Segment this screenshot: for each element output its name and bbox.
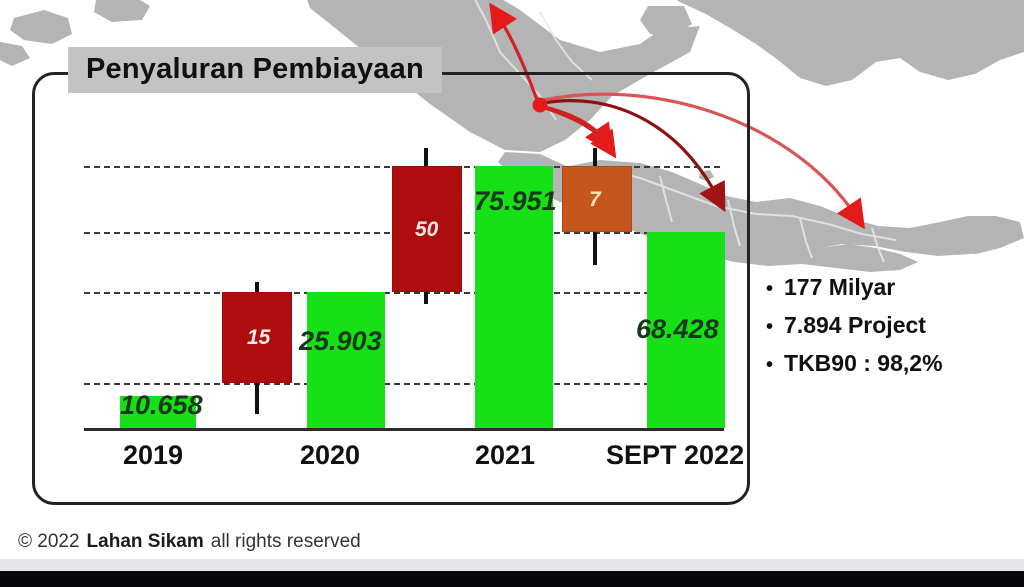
footer-brand: Lahan Sikam	[87, 531, 204, 553]
list-item: • TKB90 : 98,2%	[766, 350, 1016, 377]
footer: © 2022 Lahan Sikam all rights reserved	[0, 525, 1024, 559]
bullet-dot-icon: •	[766, 279, 773, 299]
x-axis-label-2021: 2021	[475, 440, 535, 471]
footer-grey-strip	[0, 559, 1024, 571]
list-item: • 177 Milyar	[766, 274, 1016, 301]
footer-black-strip	[0, 571, 1024, 587]
candle-label-2020: 15	[247, 326, 270, 350]
bullet-dot-icon: •	[766, 355, 773, 375]
x-axis-label-2020: 2020	[300, 440, 360, 471]
footer-rights: all rights reserved	[211, 531, 361, 553]
bar-label-green-2019: 10.658	[120, 390, 203, 421]
slide-canvas: Penyaluran Pembiayaan 10.658 15 25.903 5…	[0, 0, 1024, 587]
x-axis-line	[84, 428, 724, 431]
chart-plot-area: 10.658 15 25.903 50 75.951 7 68.428	[84, 160, 720, 430]
x-axis-label-sept-2022: SEPT 2022	[606, 440, 744, 471]
page-title: Penyaluran Pembiayaan	[86, 54, 424, 84]
list-item: • 7.894 Project	[766, 312, 1016, 339]
candle-label-2022: 7	[589, 188, 601, 212]
bullet-label-tkb90: TKB90 : 98,2%	[784, 350, 943, 377]
candle-label-2021: 50	[415, 218, 438, 242]
bar-label-green-2022: 68.428	[636, 314, 719, 345]
bar-green-2020[interactable]	[307, 292, 385, 428]
x-axis-label-2019: 2019	[123, 440, 183, 471]
bar-label-green-2021: 75.951	[474, 186, 557, 217]
bullet-label-project: 7.894 Project	[784, 312, 926, 339]
bar-label-green-2020: 25.903	[299, 326, 382, 357]
summary-stats-list: • 177 Milyar • 7.894 Project • TKB90 : 9…	[766, 274, 1016, 388]
footer-copyright: © 2022	[18, 531, 80, 553]
gridline-4	[84, 383, 720, 385]
bullet-dot-icon: •	[766, 317, 773, 337]
gridline-3	[84, 292, 720, 294]
bullet-label-milyar: 177 Milyar	[784, 274, 895, 301]
chart-title-band: Penyaluran Pembiayaan	[68, 47, 442, 93]
